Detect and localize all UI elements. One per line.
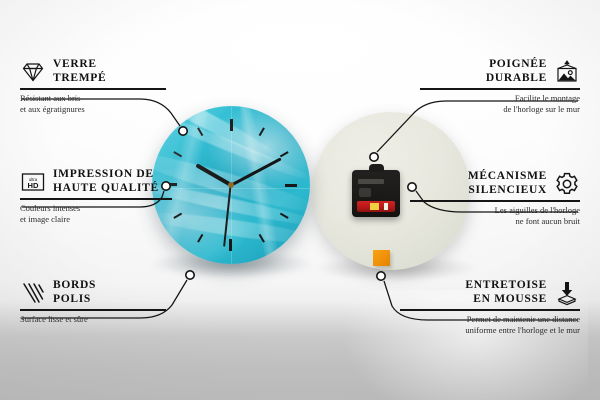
feature-header: VERRE TREMPÉ bbox=[20, 58, 180, 85]
feature-title-line2: DURABLE bbox=[486, 72, 547, 86]
quartz-movement bbox=[352, 170, 400, 217]
feature-header: MÉCANISME SILENCIEUX bbox=[410, 170, 580, 197]
feature-entretoise-en-mousse: ENTRETOISE EN MOUSSE Permet de maintenir… bbox=[400, 279, 580, 336]
hanging-frame-icon bbox=[554, 59, 580, 85]
feature-desc-line1: Les aiguilles de l'horloge bbox=[410, 205, 580, 216]
feature-header: BORDS POLIS bbox=[20, 279, 180, 306]
feature-title-line2: TREMPÉ bbox=[53, 72, 106, 86]
battery-stripe bbox=[370, 203, 379, 210]
feature-rule bbox=[20, 198, 172, 200]
feature-verre-trempe: VERRE TREMPÉ Résistant aux bris et aux é… bbox=[20, 58, 180, 115]
polished-edges-icon bbox=[20, 280, 46, 306]
feature-title-line1: MÉCANISME bbox=[468, 170, 547, 184]
feature-title-line1: BORDS bbox=[53, 279, 96, 293]
svg-text:HD: HD bbox=[28, 181, 39, 190]
feature-desc-line1: Surface lisse et sûre bbox=[20, 314, 180, 325]
feature-description: Résistant aux bris et aux égratignures bbox=[20, 93, 180, 115]
feature-description: Permet de maintenir une distance uniform… bbox=[400, 314, 580, 336]
feature-title-line1: IMPRESSION DE bbox=[53, 168, 159, 182]
feature-title-line1: ENTRETOISE bbox=[465, 279, 547, 293]
infographic-canvas: VERRE TREMPÉ Résistant aux bris et aux é… bbox=[0, 0, 600, 400]
feature-title: MÉCANISME SILENCIEUX bbox=[468, 170, 547, 197]
feature-desc-line1: Couleurs intenses bbox=[20, 203, 190, 214]
gear-icon bbox=[554, 171, 580, 197]
foam-spacer-icon bbox=[554, 280, 580, 306]
feature-desc-line1: Permet de maintenir une distance bbox=[400, 314, 580, 325]
foam-spacer-pad bbox=[373, 250, 390, 266]
feature-impression-haute-qualite: ultra HD IMPRESSION DE HAUTE QUALITÉ Cou… bbox=[20, 168, 190, 225]
feature-desc-line2: uniforme entre l'horloge et le mur bbox=[400, 325, 580, 336]
feature-rule bbox=[20, 309, 166, 311]
diamond-icon bbox=[20, 59, 46, 85]
movement-hanger-tab bbox=[369, 164, 384, 172]
movement-slot-secondary bbox=[359, 188, 371, 197]
feature-desc-line2: de l'horloge sur le mur bbox=[420, 104, 580, 115]
feature-rule bbox=[410, 200, 580, 202]
feature-rule bbox=[20, 88, 166, 90]
ultra-hd-icon: ultra HD bbox=[20, 169, 46, 195]
feature-desc-line2: et image claire bbox=[20, 214, 190, 225]
feature-description: Couleurs intenses et image claire bbox=[20, 203, 190, 225]
feature-description: Surface lisse et sûre bbox=[20, 314, 180, 325]
battery bbox=[357, 201, 395, 212]
feature-title-line2: HAUTE QUALITÉ bbox=[53, 182, 159, 196]
feature-title-line2: POLIS bbox=[53, 293, 96, 307]
feature-title-line2: EN MOUSSE bbox=[465, 293, 547, 307]
feature-rule bbox=[420, 88, 580, 90]
feature-title: POIGNÉE DURABLE bbox=[486, 58, 547, 85]
battery-stripe-secondary bbox=[384, 203, 388, 210]
feature-description: Facilite le montage de l'horloge sur le … bbox=[420, 93, 580, 115]
feature-header: ENTRETOISE EN MOUSSE bbox=[400, 279, 580, 306]
feature-title: ENTRETOISE EN MOUSSE bbox=[465, 279, 547, 306]
feature-title: VERRE TREMPÉ bbox=[53, 58, 106, 85]
feature-desc-line2: et aux égratignures bbox=[20, 104, 180, 115]
feature-description: Les aiguilles de l'horloge ne font aucun… bbox=[410, 205, 580, 227]
movement-slot bbox=[358, 179, 384, 184]
feature-desc-line2: ne font aucun bruit bbox=[410, 216, 580, 227]
feature-header: ultra HD IMPRESSION DE HAUTE QUALITÉ bbox=[20, 168, 190, 195]
feature-title-line1: POIGNÉE bbox=[486, 58, 547, 72]
feature-title: IMPRESSION DE HAUTE QUALITÉ bbox=[53, 168, 159, 195]
feature-title-line1: VERRE bbox=[53, 58, 106, 72]
feature-header: POIGNÉE DURABLE bbox=[420, 58, 580, 85]
feature-bords-polis: BORDS POLIS Surface lisse et sûre bbox=[20, 279, 180, 325]
feature-mecanisme-silencieux: MÉCANISME SILENCIEUX Les aiguilles de l'… bbox=[410, 170, 580, 227]
feature-desc-line1: Résistant aux bris bbox=[20, 93, 180, 104]
feature-desc-line1: Facilite le montage bbox=[420, 93, 580, 104]
feature-poignee-durable: POIGNÉE DURABLE Facilite le montage de l… bbox=[420, 58, 580, 115]
feature-title-line2: SILENCIEUX bbox=[468, 184, 547, 198]
feature-rule bbox=[400, 309, 580, 311]
feature-title: BORDS POLIS bbox=[53, 279, 96, 306]
